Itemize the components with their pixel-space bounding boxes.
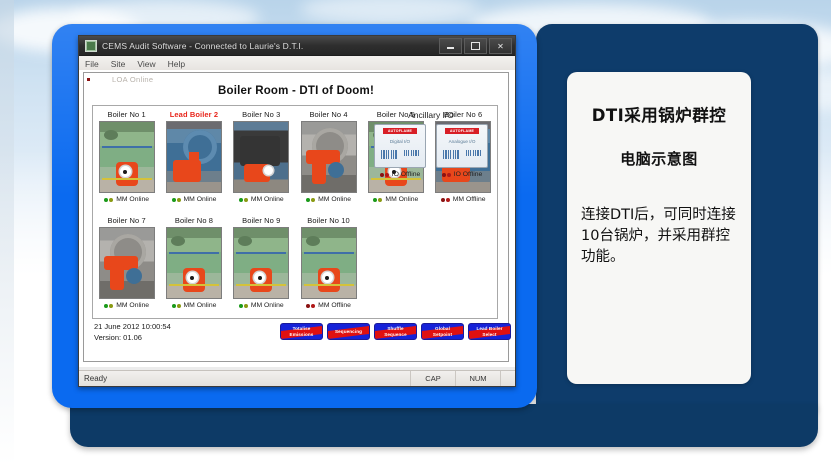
connector-pin (455, 150, 456, 159)
callout-body: 连接DTI后，可同时连接10台锅炉，并采用群控功能。 (577, 205, 741, 268)
status-dot-b (311, 304, 315, 308)
minimize-icon (447, 47, 454, 49)
io-module-graphic[interactable]: AUTOFLAMEAnalogue I/O (436, 124, 488, 168)
boiler-cell[interactable]: Boiler No 3MM Online (228, 110, 295, 203)
command-button[interactable]: Lead BoilerSelect (468, 323, 511, 340)
io-status-text: IO Offline (392, 171, 421, 178)
connector-pin (391, 150, 392, 159)
callout-card: DTI采用锅炉群控 电脑示意图 连接DTI后，可同时连接10台锅炉，并采用群控功… (567, 72, 751, 384)
io-module-name: Digital I/O (390, 139, 410, 144)
boiler-cell[interactable]: Boiler No 1MM Online (93, 110, 160, 203)
boiler-status-text: MM Offline (453, 196, 486, 203)
status-dot-a (104, 304, 108, 308)
cloud-decoration (300, 0, 480, 24)
boiler-thumbnail[interactable] (166, 121, 222, 193)
boiler-label: Boiler No 10 (307, 216, 349, 225)
connector-pin (408, 150, 409, 156)
boiler-status-text: MM Online (385, 196, 418, 203)
status-dot-a (306, 304, 310, 308)
connector-pin (468, 150, 469, 156)
connector-pin (381, 150, 382, 159)
command-button[interactable]: Sequencing (327, 323, 370, 340)
autoflame-brand-label: AUTOFLAME (383, 128, 417, 134)
connector-pin (386, 150, 387, 159)
command-button-label: TotaliseEmissions (290, 326, 314, 337)
ancillary-io-section: Ancillary I/O AUTOFLAMEDigital I/OIO Off… (365, 110, 497, 178)
connector-pin (448, 150, 449, 159)
boiler-status: MM Online (239, 302, 284, 309)
boiler-row-2: Boiler No 7MM OnlineBoiler No 8MM Online… (93, 216, 497, 309)
boiler-thumbnail[interactable] (233, 121, 289, 193)
command-button-row: TotaliseEmissionsSequencingShuffleSequen… (280, 323, 511, 340)
connector-pin (466, 150, 467, 156)
connector-pin (415, 150, 416, 156)
boiler-label: Boiler No 8 (175, 216, 213, 225)
status-dot-b (109, 198, 113, 202)
boiler-thumbnail[interactable] (301, 121, 357, 193)
boiler-status: MM Online (239, 196, 284, 203)
window-title: CEMS Audit Software - Connected to Lauri… (102, 41, 303, 51)
connector-pin (453, 150, 454, 159)
status-dot-a (306, 198, 310, 202)
boiler-label: Boiler No 3 (242, 110, 280, 119)
status-dot-b (447, 173, 451, 177)
boiler-status: MM Online (104, 196, 149, 203)
footer-info: 21 June 2012 10:00:54 Version: 01.06 (94, 321, 171, 344)
left-edge-strip (0, 0, 14, 465)
boiler-cell[interactable]: Boiler No 8MM Online (160, 216, 227, 309)
boiler-status-text: MM Online (116, 302, 149, 309)
pin-group (466, 150, 481, 159)
resize-grip[interactable] (500, 371, 515, 386)
ancillary-modules: AUTOFLAMEDigital I/OIO OfflineAUTOFLAMEA… (365, 124, 497, 178)
connector-pin (477, 150, 478, 156)
ghost-label: LOA Online (112, 75, 153, 84)
io-pins (443, 150, 481, 159)
title-bar[interactable]: CEMS Audit Software - Connected to Lauri… (79, 36, 515, 56)
connector-pin (457, 150, 458, 159)
connector-pin (411, 150, 412, 156)
callout-title: DTI采用锅炉群控 (592, 102, 727, 126)
boiler-status-text: MM Online (184, 196, 217, 203)
menu-item-view[interactable]: View (137, 59, 155, 69)
boiler-status-text: MM Online (251, 302, 284, 309)
autoflame-brand-label: AUTOFLAME (445, 128, 479, 134)
boiler-label: Lead Boiler 2 (170, 110, 218, 119)
status-dot-b (385, 173, 389, 177)
status-dot-a (239, 304, 243, 308)
page-title: Boiler Room - DTI of Doom! (84, 85, 508, 97)
boiler-cell[interactable]: Boiler No 7MM Online (93, 216, 160, 309)
status-dot-b (177, 198, 181, 202)
connector-pin (450, 150, 451, 159)
menu-item-help[interactable]: Help (168, 59, 185, 69)
maximize-button[interactable] (464, 38, 487, 54)
version-label: Version: 01.06 (94, 332, 171, 343)
connector-pin (473, 150, 474, 156)
ancillary-module[interactable]: AUTOFLAMEDigital I/OIO Offline (374, 124, 426, 178)
connector-pin (418, 150, 419, 156)
status-dot-b (378, 198, 382, 202)
boiler-cell[interactable]: Boiler No 10MM Offline (295, 216, 362, 309)
close-button[interactable]: ✕ (489, 38, 512, 54)
boiler-status: MM Online (306, 196, 351, 203)
status-dot-a (441, 198, 445, 202)
boiler-status-text: MM Online (116, 196, 149, 203)
boiler-thumbnail[interactable] (166, 227, 222, 299)
command-button-label: Sequencing (335, 329, 362, 334)
boiler-status: MM Online (172, 196, 217, 203)
boiler-status: MM Online (172, 302, 217, 309)
app-icon (85, 40, 97, 52)
minimize-button[interactable] (439, 38, 462, 54)
boiler-label: Boiler No 9 (242, 216, 280, 225)
window-controls: ✕ (439, 38, 512, 54)
status-dot-b (177, 304, 181, 308)
pin-group (404, 150, 419, 159)
timestamp: 21 June 2012 10:00:54 (94, 321, 171, 332)
connector-pin (388, 150, 389, 159)
boiler-thumbnail[interactable] (99, 121, 155, 193)
boiler-label: Boiler No 4 (309, 110, 347, 119)
command-button-label: GlobalSetpoint (433, 326, 452, 337)
connector-pin (413, 150, 414, 156)
io-status: IO Offline (442, 171, 483, 178)
boiler-status: MM Online (104, 302, 149, 309)
status-ready-label: Ready (84, 374, 107, 383)
boiler-thumbnail[interactable] (233, 227, 289, 299)
connector-pin (445, 150, 446, 159)
status-num: NUM (455, 371, 500, 386)
command-button-label: Lead BoilerSelect (476, 326, 502, 337)
status-dot-b (244, 304, 248, 308)
boiler-label: Boiler No 7 (108, 216, 146, 225)
connector-pin (393, 150, 394, 159)
pin-group (443, 150, 458, 159)
content-frame: LOA Online Boiler Room - DTI of Doom! Bo… (83, 72, 509, 362)
maximize-icon (471, 42, 480, 50)
boiler-status: MM Offline (306, 302, 351, 309)
status-dot-a (239, 198, 243, 202)
status-dot-b (109, 304, 113, 308)
status-dot-b (244, 198, 248, 202)
callout-subtitle: 电脑示意图 (620, 148, 698, 169)
io-status: IO Offline (380, 171, 421, 178)
ancillary-title: Ancillary I/O (365, 110, 497, 120)
boiler-cell[interactable]: Boiler No 4MM Online (295, 110, 362, 203)
connector-pin (475, 150, 476, 156)
pin-group (381, 150, 396, 159)
status-dot-a (442, 173, 446, 177)
io-module-name: Analogue I/O (449, 139, 476, 144)
command-button[interactable]: ShuffleSequence (374, 323, 417, 340)
connector-pin (443, 150, 444, 159)
status-indicators: CAP NUM (410, 371, 515, 386)
connector-pin (383, 150, 384, 159)
boiler-status-text: MM Online (184, 302, 217, 309)
status-dot-a (380, 173, 384, 177)
status-dot-a (373, 198, 377, 202)
status-dot-a (104, 198, 108, 202)
command-button-label: ShuffleSequence (384, 326, 407, 337)
boiler-status: MM Online (373, 196, 418, 203)
boiler-thumbnail[interactable] (301, 227, 357, 299)
navy-backdrop-bottom (70, 404, 818, 447)
command-button[interactable]: GlobalSetpoint (421, 323, 464, 340)
boiler-thumbnail[interactable] (99, 227, 155, 299)
boiler-status: MM Offline (441, 196, 486, 203)
io-pins (381, 150, 419, 159)
connector-pin (406, 150, 407, 156)
boiler-cell[interactable]: Boiler No 9MM Online (228, 216, 295, 309)
status-bar: Ready CAP NUM (79, 370, 515, 386)
boiler-status-text: MM Offline (318, 302, 351, 309)
ghost-marker (87, 78, 90, 81)
connector-pin (395, 150, 396, 159)
connector-pin (404, 150, 405, 156)
status-dot-a (172, 198, 176, 202)
application-window: CEMS Audit Software - Connected to Lauri… (78, 35, 516, 387)
status-dot-b (311, 198, 315, 202)
boiler-label: Boiler No 1 (108, 110, 146, 119)
menu-item-file[interactable]: File (85, 59, 99, 69)
boiler-cell[interactable]: Lead Boiler 2MM Online (160, 110, 227, 203)
connector-pin (470, 150, 471, 156)
status-cap: CAP (410, 371, 455, 386)
boiler-status-text: MM Online (251, 196, 284, 203)
boiler-grid: Boiler No 1MM OnlineLead Boiler 2MM Onli… (92, 105, 498, 319)
client-area: LOA Online Boiler Room - DTI of Doom! Bo… (79, 70, 515, 367)
status-dot-a (172, 304, 176, 308)
ancillary-module[interactable]: AUTOFLAMEAnalogue I/OIO Offline (436, 124, 488, 178)
io-module-graphic[interactable]: AUTOFLAMEDigital I/O (374, 124, 426, 168)
command-button[interactable]: TotaliseEmissions (280, 323, 323, 340)
status-dot-b (446, 198, 450, 202)
boiler-status-text: MM Online (318, 196, 351, 203)
connector-pin (480, 150, 481, 156)
menu-item-site[interactable]: Site (111, 59, 126, 69)
io-status-text: IO Offline (454, 171, 483, 178)
